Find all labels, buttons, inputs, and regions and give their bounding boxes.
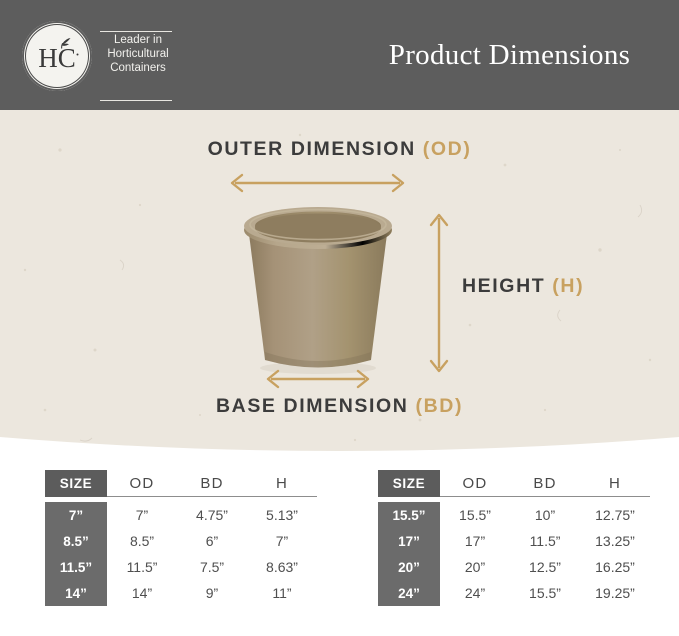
size-tables: SIZEODBDH7”7”4.75”5.13”8.5”8.5”6”7”11.5”… xyxy=(0,470,679,636)
size-cell: 17” xyxy=(378,528,440,554)
dimension-cell: 11.5” xyxy=(510,528,580,554)
tagline-line-2: Horticultural xyxy=(96,47,180,61)
hc-monogram-icon: HC xyxy=(22,21,92,91)
logo-divider-bottom xyxy=(100,100,172,101)
dimension-cell: 19.25” xyxy=(580,580,650,606)
size-cell: 7” xyxy=(45,502,107,528)
logo-divider-top xyxy=(100,31,172,32)
dimension-table-large-sizes: SIZEODBDH15.5”15.5”10”12.75”17”17”11.5”1… xyxy=(378,470,650,606)
dimension-cell: 9” xyxy=(177,580,247,606)
column-header-h: H xyxy=(580,470,650,497)
height-text: HEIGHT xyxy=(462,275,552,297)
base-dimension-text: BASE DIMENSION xyxy=(216,395,416,417)
outer-dimension-abbr: (OD) xyxy=(423,138,472,160)
height-abbr: (H) xyxy=(552,275,584,297)
dimension-cell: 7” xyxy=(247,528,317,554)
dimension-cell: 11” xyxy=(247,580,317,606)
dimension-cell: 8.5” xyxy=(107,528,177,554)
brand-logo: HC xyxy=(22,21,92,91)
table-row: 7”7”4.75”5.13” xyxy=(45,502,317,528)
planter-pot-illustration xyxy=(218,200,418,380)
dimension-cell: 12.75” xyxy=(580,502,650,528)
table-row: 8.5”8.5”6”7” xyxy=(45,528,317,554)
base-dimension-arrow-icon xyxy=(262,368,374,390)
header-bar: HC Leader in Horticultural Containers Pr… xyxy=(0,0,679,110)
column-header-bd: BD xyxy=(510,470,580,497)
dimension-cell: 5.13” xyxy=(247,502,317,528)
dimension-cell: 6” xyxy=(177,528,247,554)
page-title: Product Dimensions xyxy=(340,0,679,110)
column-header-od: OD xyxy=(107,470,177,497)
outer-dimension-text: OUTER DIMENSION xyxy=(208,138,423,160)
brand-tagline: Leader in Horticultural Containers xyxy=(96,33,180,75)
base-dimension-label: BASE DIMENSION (BD) xyxy=(0,395,679,418)
diagram-panel: OUTER DIMENSION (OD) HEIGHT (H) xyxy=(0,110,679,455)
dimension-cell: 8.63” xyxy=(247,554,317,580)
dimension-cell: 10” xyxy=(510,502,580,528)
size-cell: 15.5” xyxy=(378,502,440,528)
column-header-bd: BD xyxy=(177,470,247,497)
height-label: HEIGHT (H) xyxy=(462,275,584,298)
column-header-size: SIZE xyxy=(45,470,107,497)
table-row: 17”17”11.5”13.25” xyxy=(378,528,650,554)
table-row: 14”14”9”11” xyxy=(45,580,317,606)
dimension-cell: 16.25” xyxy=(580,554,650,580)
size-cell: 24” xyxy=(378,580,440,606)
table-row: 20”20”12.5”16.25” xyxy=(378,554,650,580)
table-row: 24”24”15.5”19.25” xyxy=(378,580,650,606)
dimension-cell: 20” xyxy=(440,554,510,580)
dimension-cell: 13.25” xyxy=(580,528,650,554)
dimension-cell: 11.5” xyxy=(107,554,177,580)
column-header-h: H xyxy=(247,470,317,497)
dimension-cell: 7” xyxy=(107,502,177,528)
dimension-cell: 15.5” xyxy=(510,580,580,606)
tagline-line-1: Leader in xyxy=(96,33,180,47)
size-table-large: SIZEODBDH15.5”15.5”10”12.75”17”17”11.5”1… xyxy=(378,470,650,606)
dimension-cell: 17” xyxy=(440,528,510,554)
column-header-od: OD xyxy=(440,470,510,497)
column-header-size: SIZE xyxy=(378,470,440,497)
size-cell: 20” xyxy=(378,554,440,580)
table-header-row: SIZEODBDH xyxy=(45,470,317,497)
dimension-cell: 12.5” xyxy=(510,554,580,580)
base-dimension-abbr: (BD) xyxy=(415,395,463,417)
dimension-cell: 14” xyxy=(107,580,177,606)
size-table-small: SIZEODBDH7”7”4.75”5.13”8.5”8.5”6”7”11.5”… xyxy=(45,470,317,606)
size-cell: 14” xyxy=(45,580,107,606)
outer-dimension-label: OUTER DIMENSION (OD) xyxy=(0,138,679,161)
table-row: 15.5”15.5”10”12.75” xyxy=(378,502,650,528)
tagline-line-3: Containers xyxy=(96,61,180,75)
table-row: 11.5”11.5”7.5”8.63” xyxy=(45,554,317,580)
dimension-cell: 15.5” xyxy=(440,502,510,528)
height-arrow-icon xyxy=(428,208,450,378)
size-cell: 11.5” xyxy=(45,554,107,580)
svg-text:HC: HC xyxy=(38,43,76,73)
outer-dimension-arrow-icon xyxy=(225,172,410,194)
table-header-row: SIZEODBDH xyxy=(378,470,650,497)
dimension-table-small-sizes: SIZEODBDH7”7”4.75”5.13”8.5”8.5”6”7”11.5”… xyxy=(45,470,317,606)
dimension-cell: 24” xyxy=(440,580,510,606)
dimension-cell: 7.5” xyxy=(177,554,247,580)
size-cell: 8.5” xyxy=(45,528,107,554)
dimension-cell: 4.75” xyxy=(177,502,247,528)
